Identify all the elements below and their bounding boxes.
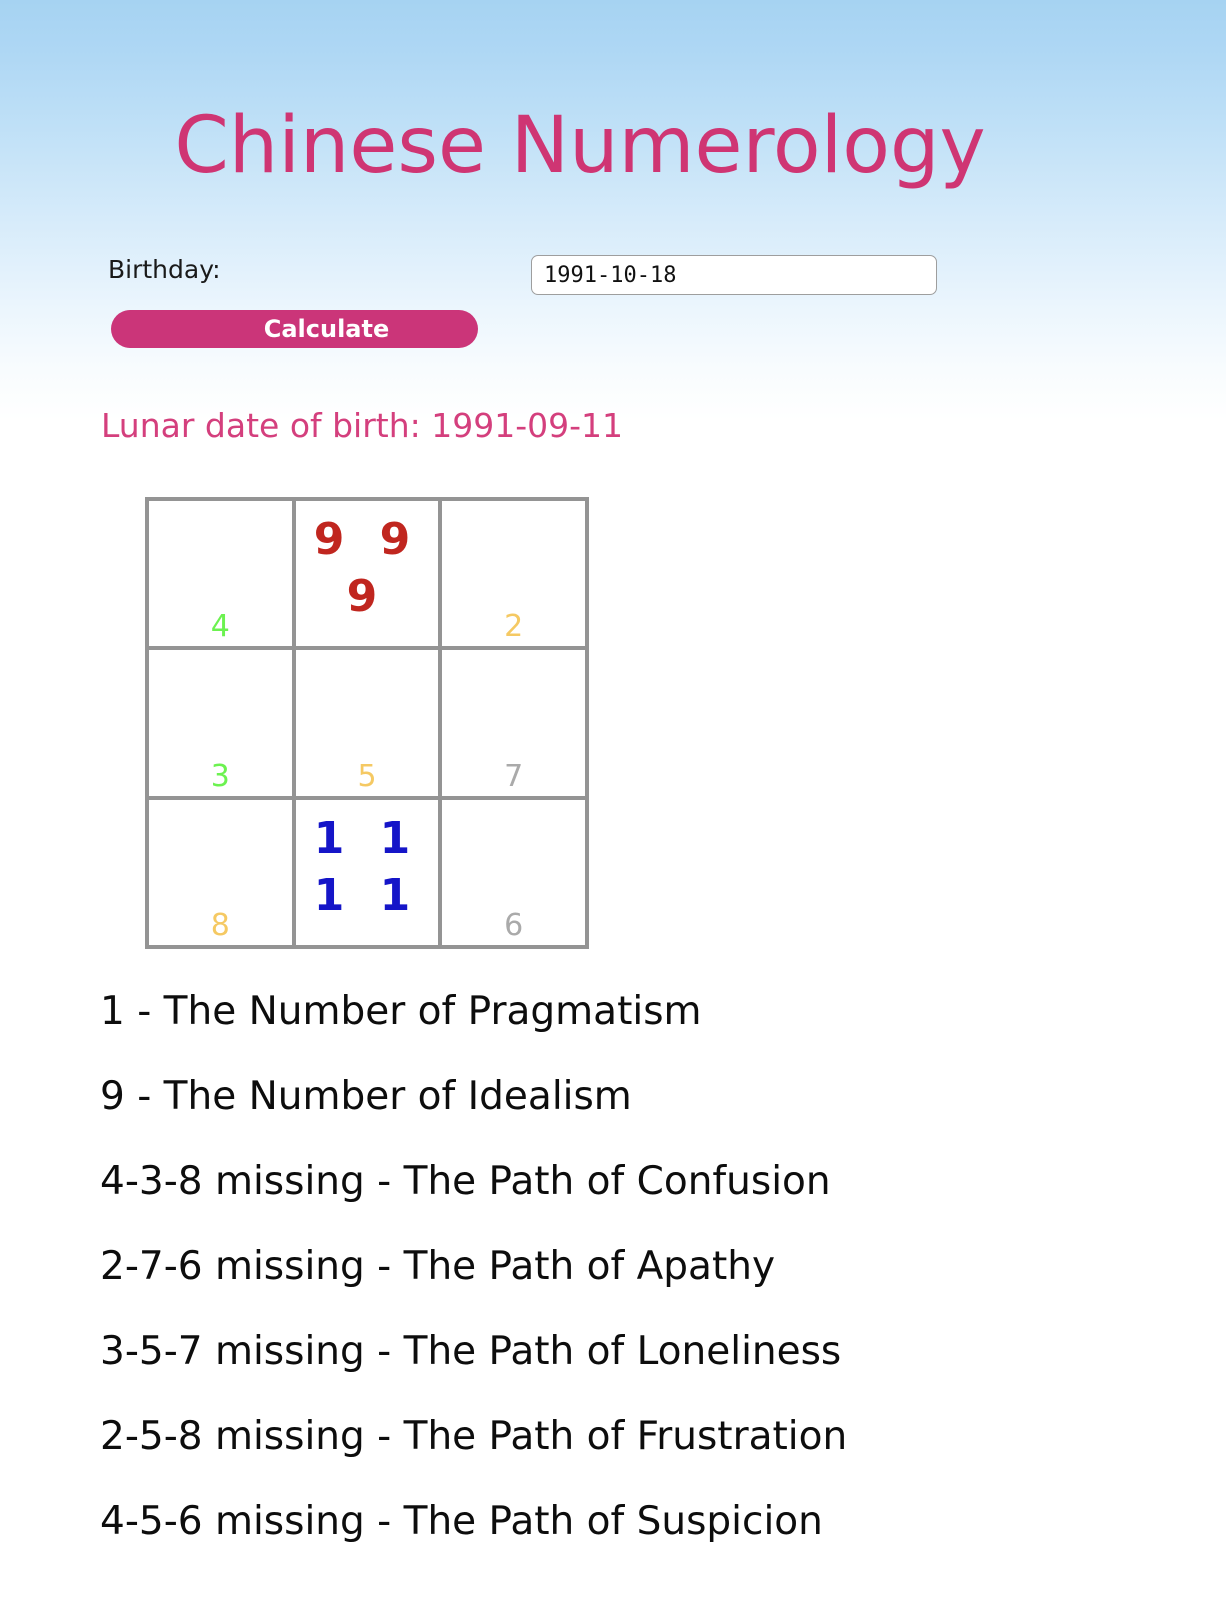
page-title: Chinese Numerology [0, 107, 1160, 185]
cell-label: 2 [442, 612, 585, 642]
page-root: Chinese Numerology Birthday: Calculate L… [0, 0, 1226, 1610]
meaning-item: 4-3-8 missing - The Path of Confusion [100, 1162, 1160, 1201]
cell-label: 8 [149, 911, 292, 941]
meaning-item: 2-7-6 missing - The Path of Apathy [100, 1247, 1160, 1286]
birthday-input[interactable] [531, 255, 937, 295]
cell-digits: 1 1 1 1 [296, 810, 439, 924]
meaning-item: 4-5-6 missing - The Path of Suspicion [100, 1502, 1160, 1541]
cell-digits: 9 9 9 [296, 511, 439, 625]
cell-label: 6 [442, 911, 585, 941]
grid-cell-3[interactable]: 3 [149, 650, 296, 799]
cell-label: 7 [442, 762, 585, 792]
cell-label: 3 [149, 762, 292, 792]
grid-cell-1[interactable]: 1 1 1 1 1 [296, 800, 443, 949]
grid-cell-8[interactable]: 8 [149, 800, 296, 949]
grid-cell-6[interactable]: 6 [442, 800, 589, 949]
cell-label: 1 [296, 911, 439, 941]
calculate-button[interactable]: Calculate [111, 310, 478, 348]
meaning-item: 1 - The Number of Pragmatism [100, 992, 1160, 1031]
meaning-item: 9 - The Number of Idealism [100, 1077, 1160, 1116]
numerology-grid: 4 9 9 9 9 2 3 5 7 8 1 1 1 1 1 [145, 497, 589, 949]
cell-label: 9 [296, 612, 439, 642]
cell-label: 5 [296, 762, 439, 792]
meaning-list: 1 - The Number of Pragmatism 9 - The Num… [100, 992, 1160, 1587]
grid-cell-7[interactable]: 7 [442, 650, 589, 799]
birthday-label: Birthday: [108, 255, 221, 284]
meaning-item: 3-5-7 missing - The Path of Loneliness [100, 1332, 1160, 1371]
grid-cell-2[interactable]: 2 [442, 501, 589, 650]
cell-label: 4 [149, 612, 292, 642]
grid-cell-4[interactable]: 4 [149, 501, 296, 650]
lunar-date-result: Lunar date of birth: 1991-09-11 [101, 406, 623, 445]
meaning-item: 2-5-8 missing - The Path of Frustration [100, 1417, 1160, 1456]
grid-cell-5[interactable]: 5 [296, 650, 443, 799]
grid-cell-9[interactable]: 9 9 9 9 [296, 501, 443, 650]
